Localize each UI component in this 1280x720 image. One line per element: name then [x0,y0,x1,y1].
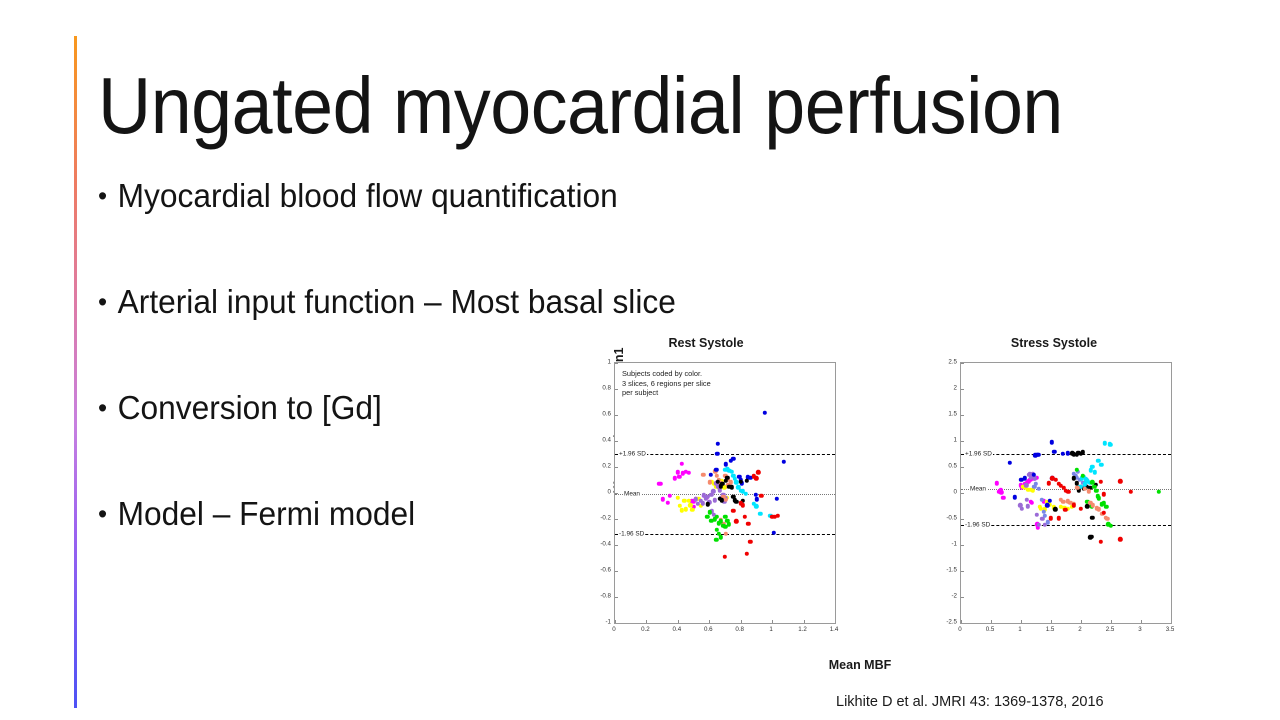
scatter-point [1037,523,1041,527]
reference-line-label: -1.96 SD [964,522,991,529]
y-tick-label: 0.6 [602,411,611,418]
y-tick-mark [615,415,618,416]
x-tick-mark [835,620,836,623]
x-tick-mark [1021,620,1022,623]
chart-panel-rest: Subjects coded by color. 3 slices, 6 reg… [614,362,836,624]
bullet-text: Arterial input function – Most basal sli… [118,282,676,322]
scatter-point [714,537,718,541]
x-tick-label: 2.5 [1106,626,1115,633]
x-tick-label: 0.4 [673,626,682,633]
list-item: • Myocardial blood flow quantification [98,176,828,216]
y-tick-mark [615,571,618,572]
scatter-point [1118,479,1122,483]
scatter-point [723,554,727,558]
scatter-point [659,481,663,485]
scatter-point [700,501,704,505]
y-tick-mark [615,363,618,364]
scatter-point [675,495,679,499]
scatter-point [1094,488,1098,492]
x-tick-mark [1141,620,1142,623]
y-tick-label: 1.5 [948,411,957,418]
scatter-point [1033,482,1037,486]
x-tick-label: 0.6 [704,626,713,633]
scatter-point [690,507,694,511]
accent-gradient-bar [74,36,77,708]
y-tick-mark [615,441,618,442]
scatter-point [1045,520,1049,524]
scatter-point [1063,508,1067,512]
scatter-point [724,532,728,536]
scatter-point [661,497,665,501]
y-tick-mark [615,623,618,624]
scatter-point [731,457,735,461]
y-tick-mark [961,441,964,442]
scatter-point [1045,503,1049,507]
list-item: • Arterial input function – Most basal s… [98,282,828,322]
x-tick-mark [961,620,962,623]
x-tick-mark [741,620,742,623]
x-tick-label: 1 [769,626,772,633]
scatter-point [1049,440,1053,444]
scatter-point [1089,535,1093,539]
y-tick-mark [615,519,618,520]
x-tick-mark [1171,620,1172,623]
scatter-point [1079,506,1083,510]
scatter-point [1049,516,1053,520]
scatter-point [684,507,688,511]
y-tick-mark [961,519,964,520]
scatter-point [1129,489,1133,493]
scatter-point [718,535,722,539]
y-tick-label: 1 [954,437,957,444]
x-tick-mark [772,620,773,623]
y-tick-label: 0.8 [602,385,611,392]
y-tick-label: -0.5 [946,515,957,522]
y-tick-mark [961,467,964,468]
y-tick-mark [961,545,964,546]
scatter-point [1109,524,1113,528]
scatter-point [748,540,752,544]
scatter-point [775,514,779,518]
x-tick-label: 0.5 [986,626,995,633]
y-tick-label: -1 [605,619,611,626]
x-tick-label: 0 [612,626,615,633]
scatter-point [715,452,719,456]
scatter-point [1101,511,1105,515]
y-tick-label: 0.5 [948,463,957,470]
scatter-point [1053,507,1057,511]
scatter-point [701,472,705,476]
reference-line [961,525,1171,526]
bullet-text: Model – Fermi model [118,494,416,534]
y-tick-mark [615,467,618,468]
scatter-point [723,525,727,529]
x-tick-mark [646,620,647,623]
scatter-point [1105,517,1109,521]
chart-panel-stress: +1.96 SDMean-1.96 SD -2.5-2-1.5-1-0.500.… [960,362,1172,624]
scatter-point [740,503,744,507]
x-tick-mark [709,620,710,623]
scatter-point [759,494,763,498]
scatter-point [1019,506,1023,510]
scatter-point [731,508,735,512]
scatter-point [744,478,748,482]
y-tick-mark [961,493,964,494]
scatter-point [758,511,762,515]
y-tick-label: 0 [608,489,611,496]
scatter-point [1099,462,1103,466]
y-tick-label: 0.4 [602,437,611,444]
y-tick-mark [615,545,618,546]
scatter-point [1090,465,1094,469]
plot-area-rest: Subjects coded by color. 3 slices, 6 reg… [614,362,836,624]
y-tick-mark [961,623,964,624]
scatter-point [754,476,758,480]
x-tick-label: 2 [1078,626,1081,633]
scatter-point [1072,503,1076,507]
scatter-point [1036,453,1040,457]
scatter-point [744,552,748,556]
scatter-point [1156,490,1160,494]
scatter-point [763,410,767,414]
reference-line-label: +1.96 SD [618,451,647,458]
scatter-point [724,462,728,466]
y-tick-label: 2.5 [948,359,957,366]
scatter-point [1037,487,1041,491]
y-tick-label: -0.4 [600,541,611,548]
x-tick-label: 3.5 [1166,626,1175,633]
scatter-point [1093,470,1097,474]
bullet-glyph-icon: • [98,388,107,428]
scatter-point [687,471,691,475]
bullet-glyph-icon: • [98,282,107,322]
scatter-point [742,514,746,518]
bullet-glyph-icon: • [98,494,107,534]
scatter-point [734,519,738,523]
scatter-point [711,489,715,493]
scatter-point [744,492,748,496]
scatter-point [724,498,728,502]
x-tick-mark [615,620,616,623]
scatter-point [1118,537,1122,541]
plot-area-stress: +1.96 SDMean-1.96 SD [960,362,1172,624]
x-tick-label: 1.5 [1046,626,1055,633]
bland-altman-figure: Rest Systole Stress Systole Difference b… [540,330,1240,690]
scatter-point [746,521,750,525]
bullet-text: Myocardial blood flow quantification [118,176,618,216]
y-tick-label: 1 [608,359,611,366]
x-tick-label: 0.2 [641,626,650,633]
scatter-point [668,493,672,497]
scatter-point [1104,505,1108,509]
scatter-point [680,462,684,466]
scatter-point [1046,481,1050,485]
scatter-point [677,475,681,479]
slide-root: Ungated myocardial perfusion • Myocardia… [0,0,1280,720]
y-tick-label: -1.5 [946,567,957,574]
y-tick-mark [615,597,618,598]
y-tick-mark [961,415,964,416]
scatter-point [727,522,731,526]
reference-line-label: -1.96 SD [618,530,645,537]
scatter-point [708,472,712,476]
scatter-point [1060,452,1064,456]
y-tick-mark [961,363,964,364]
scatter-point [665,501,669,505]
scatter-point [1033,476,1037,480]
x-tick-mark [678,620,679,623]
scatter-point [774,497,778,501]
scatter-point [1099,540,1103,544]
scatter-point [1043,513,1047,517]
scatter-point [756,470,760,474]
y-tick-mark [615,389,618,390]
scatter-point [1109,443,1113,447]
scatter-point [995,481,999,485]
scatter-point [782,459,786,463]
x-tick-mark [1081,620,1082,623]
scatter-point [1072,476,1076,480]
y-tick-label: -0.8 [600,593,611,600]
x-tick-label: 0.8 [735,626,744,633]
scatter-point [716,442,720,446]
scatter-point [1090,515,1094,519]
x-tick-label: 1.2 [798,626,807,633]
bullet-glyph-icon: • [98,176,107,216]
scatter-point [1102,492,1106,496]
y-tick-mark [961,389,964,390]
y-tick-label: 0.2 [602,463,611,470]
scatter-point [755,497,759,501]
y-tick-label: 2 [954,385,957,392]
x-tick-label: 3 [1138,626,1141,633]
scatter-point [1013,495,1017,499]
y-tick-label: -2 [951,593,957,600]
x-tick-label: 0 [958,626,961,633]
reference-line-label: Mean [969,486,987,493]
scatter-point [1035,513,1039,517]
scatter-point [754,504,758,508]
scatter-point [1086,489,1090,493]
scatter-point [1048,498,1052,502]
y-tick-mark [961,597,964,598]
x-axis-label: Mean MBF [710,658,1010,672]
scatter-point [1001,496,1005,500]
reference-line [615,454,835,455]
y-tick-label: -2.5 [946,619,957,626]
chart-annotation: Subjects coded by color. 3 slices, 6 reg… [622,369,711,398]
x-tick-label: 1.4 [830,626,839,633]
scatter-point [1040,517,1044,521]
bullet-text: Conversion to [Gd] [118,388,382,428]
page-title: Ungated myocardial perfusion [98,62,1110,150]
x-tick-mark [804,620,805,623]
scatter-point [1098,480,1102,484]
citation-text: Likhite D et al. JMRI 43: 1369-1378, 201… [836,694,1104,710]
scatter-point [706,502,710,506]
scatter-point [1056,516,1060,520]
y-tick-mark [615,493,618,494]
x-tick-mark [1051,620,1052,623]
x-tick-label: 1 [1018,626,1021,633]
reference-line-label: +1.96 SD [964,450,993,457]
y-tick-label: 0 [954,489,957,496]
y-tick-label: -0.2 [600,515,611,522]
scatter-point [729,485,733,489]
y-tick-label: -0.6 [600,567,611,574]
scatter-point [714,468,718,472]
y-tick-mark [961,571,964,572]
scatter-point [1026,504,1030,508]
scatter-point [1008,461,1012,465]
chart-title-stress: Stress Systole [944,336,1164,350]
scatter-point [999,490,1003,494]
reference-line-label: Mean [623,491,641,498]
x-tick-mark [991,620,992,623]
y-tick-label: -1 [951,541,957,548]
x-tick-mark [1111,620,1112,623]
scatter-point [1103,441,1107,445]
scatter-point [1066,490,1070,494]
scatter-point [1030,501,1034,505]
